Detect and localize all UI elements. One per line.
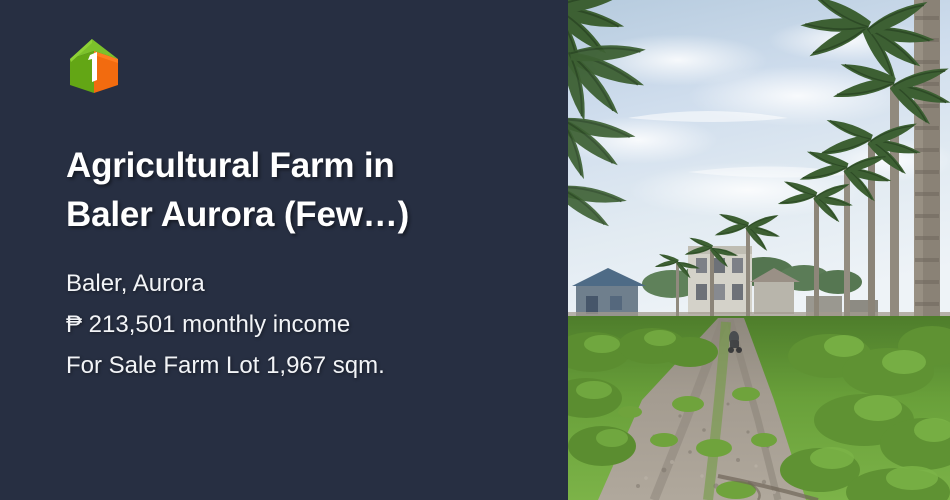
location-text: Baler, Aurora [66, 263, 536, 304]
listing-details: Baler, Aurora ₱ 213,501 monthly income F… [66, 263, 536, 386]
title-line-2: Baler Aurora (Few…) [66, 190, 496, 239]
property-photo [568, 0, 950, 500]
house-logo[interactable] [66, 37, 122, 95]
page-title: Agricultural Farm in Baler Aurora (Few…) [66, 141, 496, 239]
title-line-1: Agricultural Farm in [66, 141, 496, 190]
spec-text: For Sale Farm Lot 1,967 sqm. [66, 345, 536, 386]
price-text: ₱ 213,501 monthly income [66, 304, 536, 345]
property-listing-card: Agricultural Farm in Baler Aurora (Few…)… [0, 0, 950, 500]
info-panel: Agricultural Farm in Baler Aurora (Few…)… [0, 0, 568, 500]
